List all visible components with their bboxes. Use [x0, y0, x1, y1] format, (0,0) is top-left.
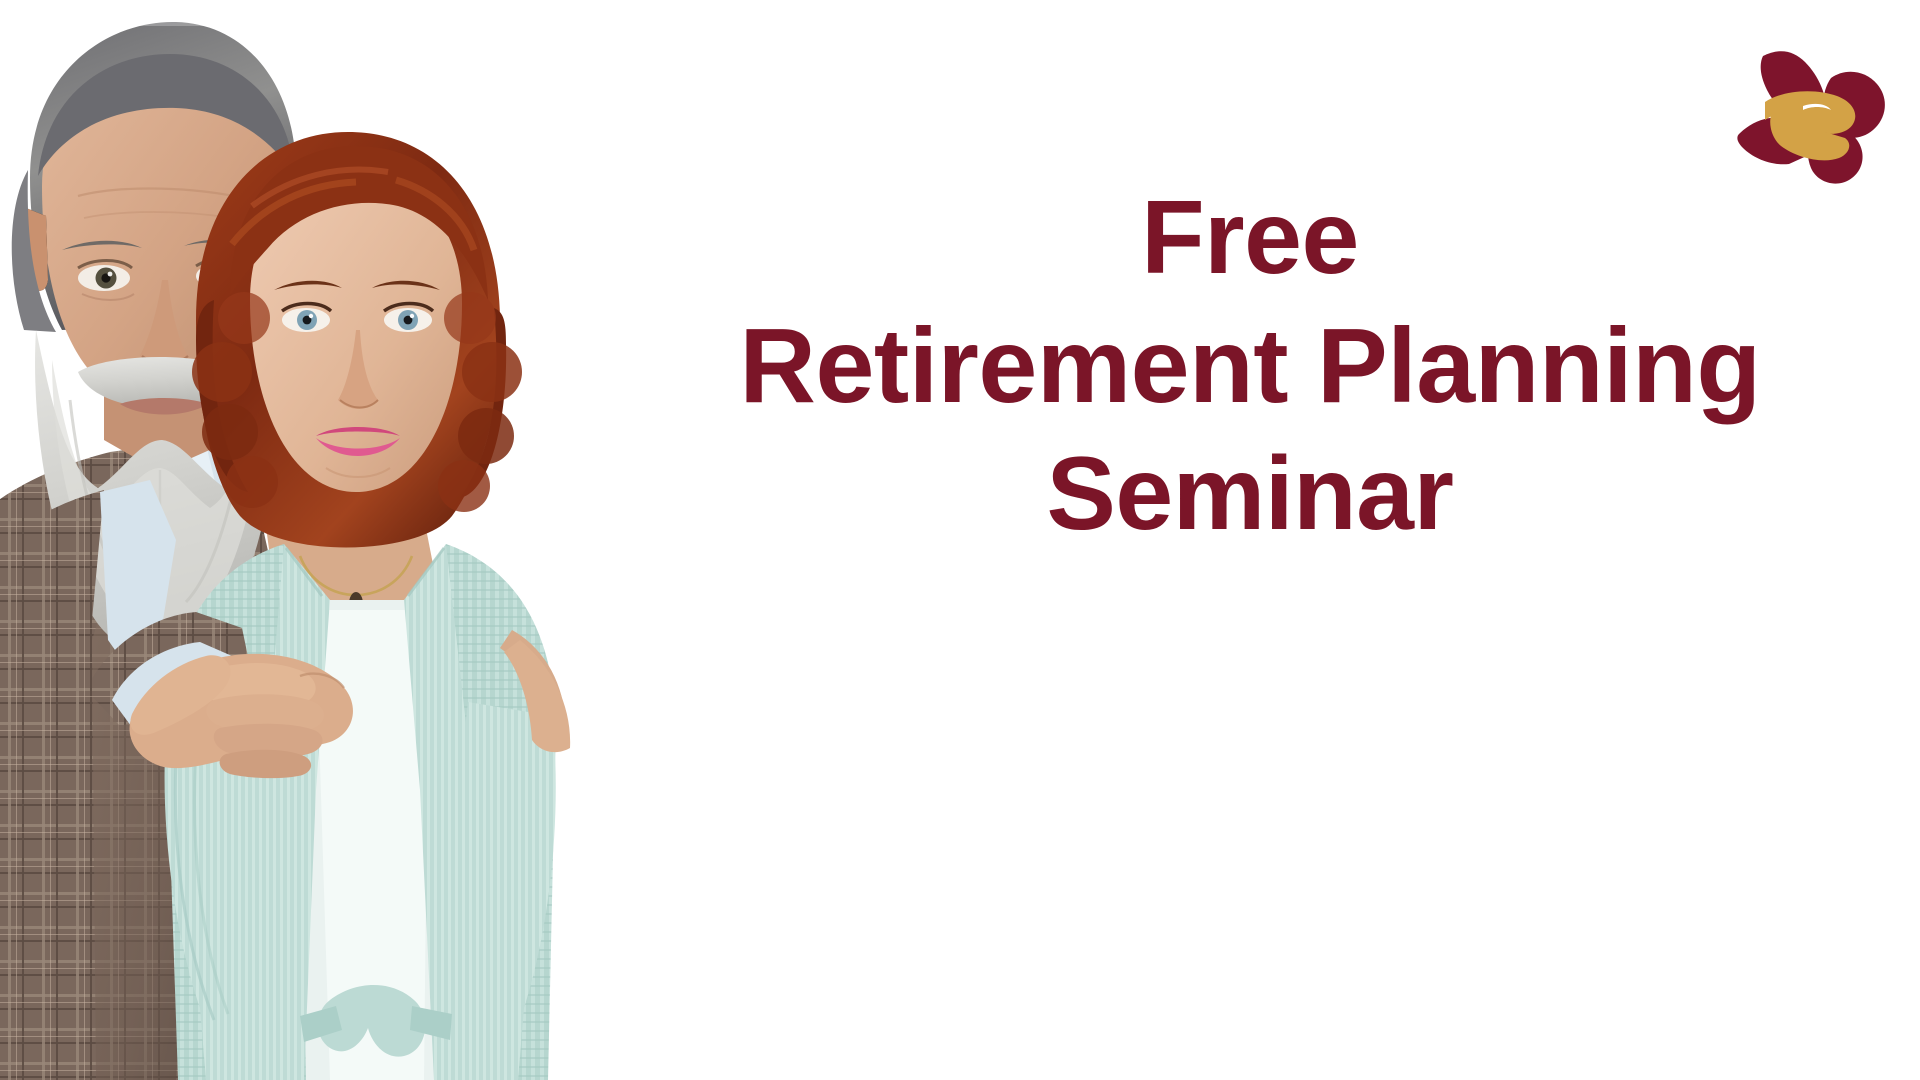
- headline-line-3: Seminar: [660, 431, 1840, 558]
- senior-couple-photo: [0, 0, 640, 1080]
- page-title: Free Retirement Planning Seminar: [660, 175, 1840, 558]
- headline-line-1: Free: [660, 175, 1840, 302]
- headline-line-2: Retirement Planning: [660, 302, 1840, 431]
- promo-banner: Free Retirement Planning Seminar: [0, 0, 1920, 1080]
- butterfly-logo: [1727, 22, 1902, 187]
